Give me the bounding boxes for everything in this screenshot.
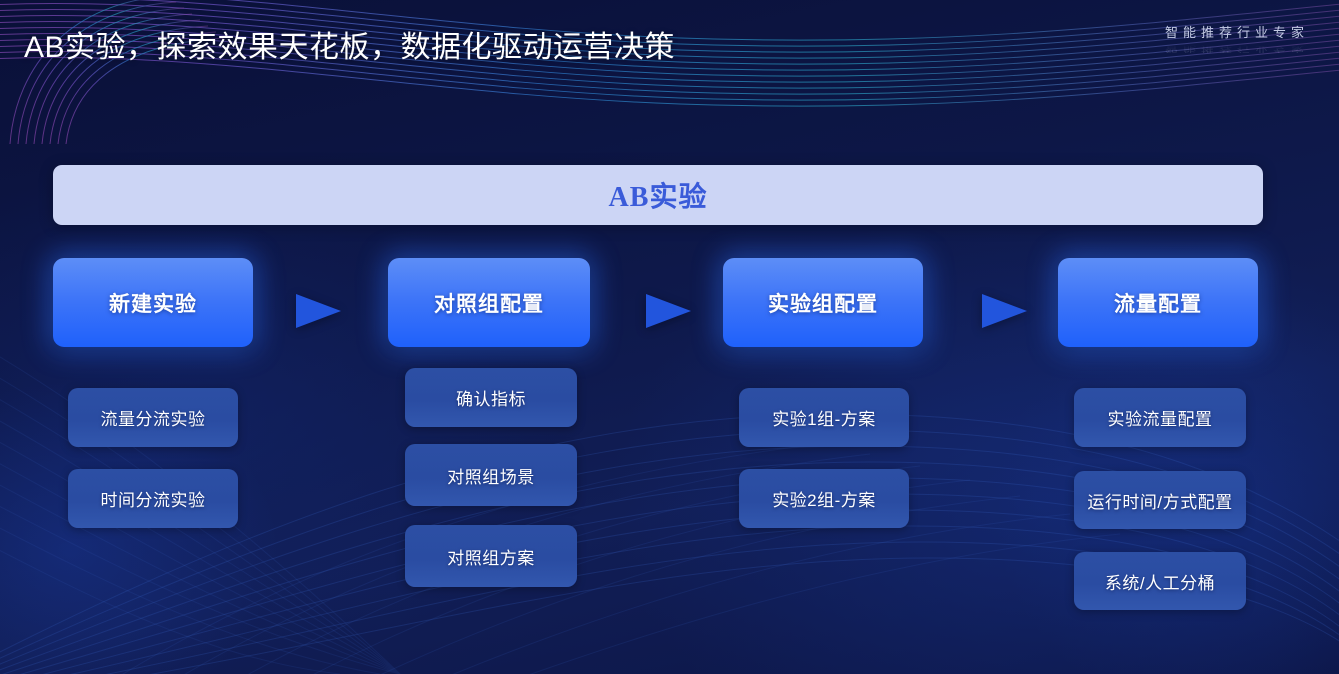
arrow-right-icon-3 xyxy=(982,294,1027,328)
flow-substep-item[interactable]: 运行时间/方式配置 xyxy=(1074,471,1246,529)
flow-stage-header-label-3: 实验组配置 xyxy=(768,288,878,318)
flow-stage-header-label-4: 流量配置 xyxy=(1114,288,1202,318)
diagram-banner-label: AB实验 xyxy=(609,175,708,215)
flow-substep-label: 流量分流实验 xyxy=(101,405,206,430)
brand-text: 智能推荐行业专家 xyxy=(1165,22,1309,41)
flow-substep-label: 对照组方案 xyxy=(447,544,535,569)
flow-substep-item[interactable]: 实验1组-方案 xyxy=(739,388,909,447)
page-title: AB实验，探索效果天花板，数据化驱动运营决策 xyxy=(24,22,675,66)
flow-substep-item[interactable]: 确认指标 xyxy=(405,368,577,427)
flow-substep-item[interactable]: 实验2组-方案 xyxy=(739,469,909,528)
flow-stage-header-3[interactable]: 实验组配置 xyxy=(723,258,923,347)
flow-substep-label: 确认指标 xyxy=(456,385,526,410)
flow-substep-item[interactable]: 时间分流实验 xyxy=(68,469,238,528)
slide-root: AB实验，探索效果天花板，数据化驱动运营决策 智能推荐行业专家 智能推荐行业专家… xyxy=(0,0,1339,674)
ab-experiment-flow-diagram: AB实验 新建实验 流量分流实验 时间分流实验 对照组配置 xyxy=(0,0,1339,674)
flow-stage-header-4[interactable]: 流量配置 xyxy=(1058,258,1258,347)
flow-column-2: 对照组配置 确认指标 对照组场景 对照组方案 xyxy=(388,258,590,347)
flow-substep-item[interactable]: 对照组方案 xyxy=(405,525,577,587)
flow-column-4: 流量配置 实验流量配置 运行时间/方式配置 系统/人工分桶 xyxy=(1058,258,1258,347)
flow-substep-label: 对照组场景 xyxy=(447,463,535,488)
diagram-banner: AB实验 xyxy=(53,165,1263,225)
flow-column-1: 新建实验 流量分流实验 时间分流实验 xyxy=(53,258,253,347)
flow-substep-label: 实验1组-方案 xyxy=(772,405,876,430)
flow-stage-header-1[interactable]: 新建实验 xyxy=(53,258,253,347)
arrow-right-icon-2 xyxy=(646,294,691,328)
arrow-right-icon-1 xyxy=(296,294,341,328)
flow-substep-item[interactable]: 实验流量配置 xyxy=(1074,388,1246,447)
flow-substep-label: 运行时间/方式配置 xyxy=(1087,488,1232,513)
flow-substep-item[interactable]: 系统/人工分桶 xyxy=(1074,552,1246,610)
flow-substep-item[interactable]: 流量分流实验 xyxy=(68,388,238,447)
flow-stage-header-2[interactable]: 对照组配置 xyxy=(388,258,590,347)
flow-substep-label: 实验流量配置 xyxy=(1108,405,1213,430)
flow-substep-item[interactable]: 对照组场景 xyxy=(405,444,577,506)
flow-substep-label: 实验2组-方案 xyxy=(772,486,876,511)
flow-substep-label: 系统/人工分桶 xyxy=(1105,569,1215,594)
flow-substep-label: 时间分流实验 xyxy=(101,486,206,511)
brand-text-reflection: 智能推荐行业专家 xyxy=(1165,44,1309,54)
flow-stage-header-label-1: 新建实验 xyxy=(109,288,197,318)
flow-stage-header-label-2: 对照组配置 xyxy=(434,288,544,318)
brand-logo: 智能推荐行业专家 智能推荐行业专家 xyxy=(1165,22,1309,59)
flow-column-3: 实验组配置 实验1组-方案 实验2组-方案 xyxy=(723,258,923,347)
